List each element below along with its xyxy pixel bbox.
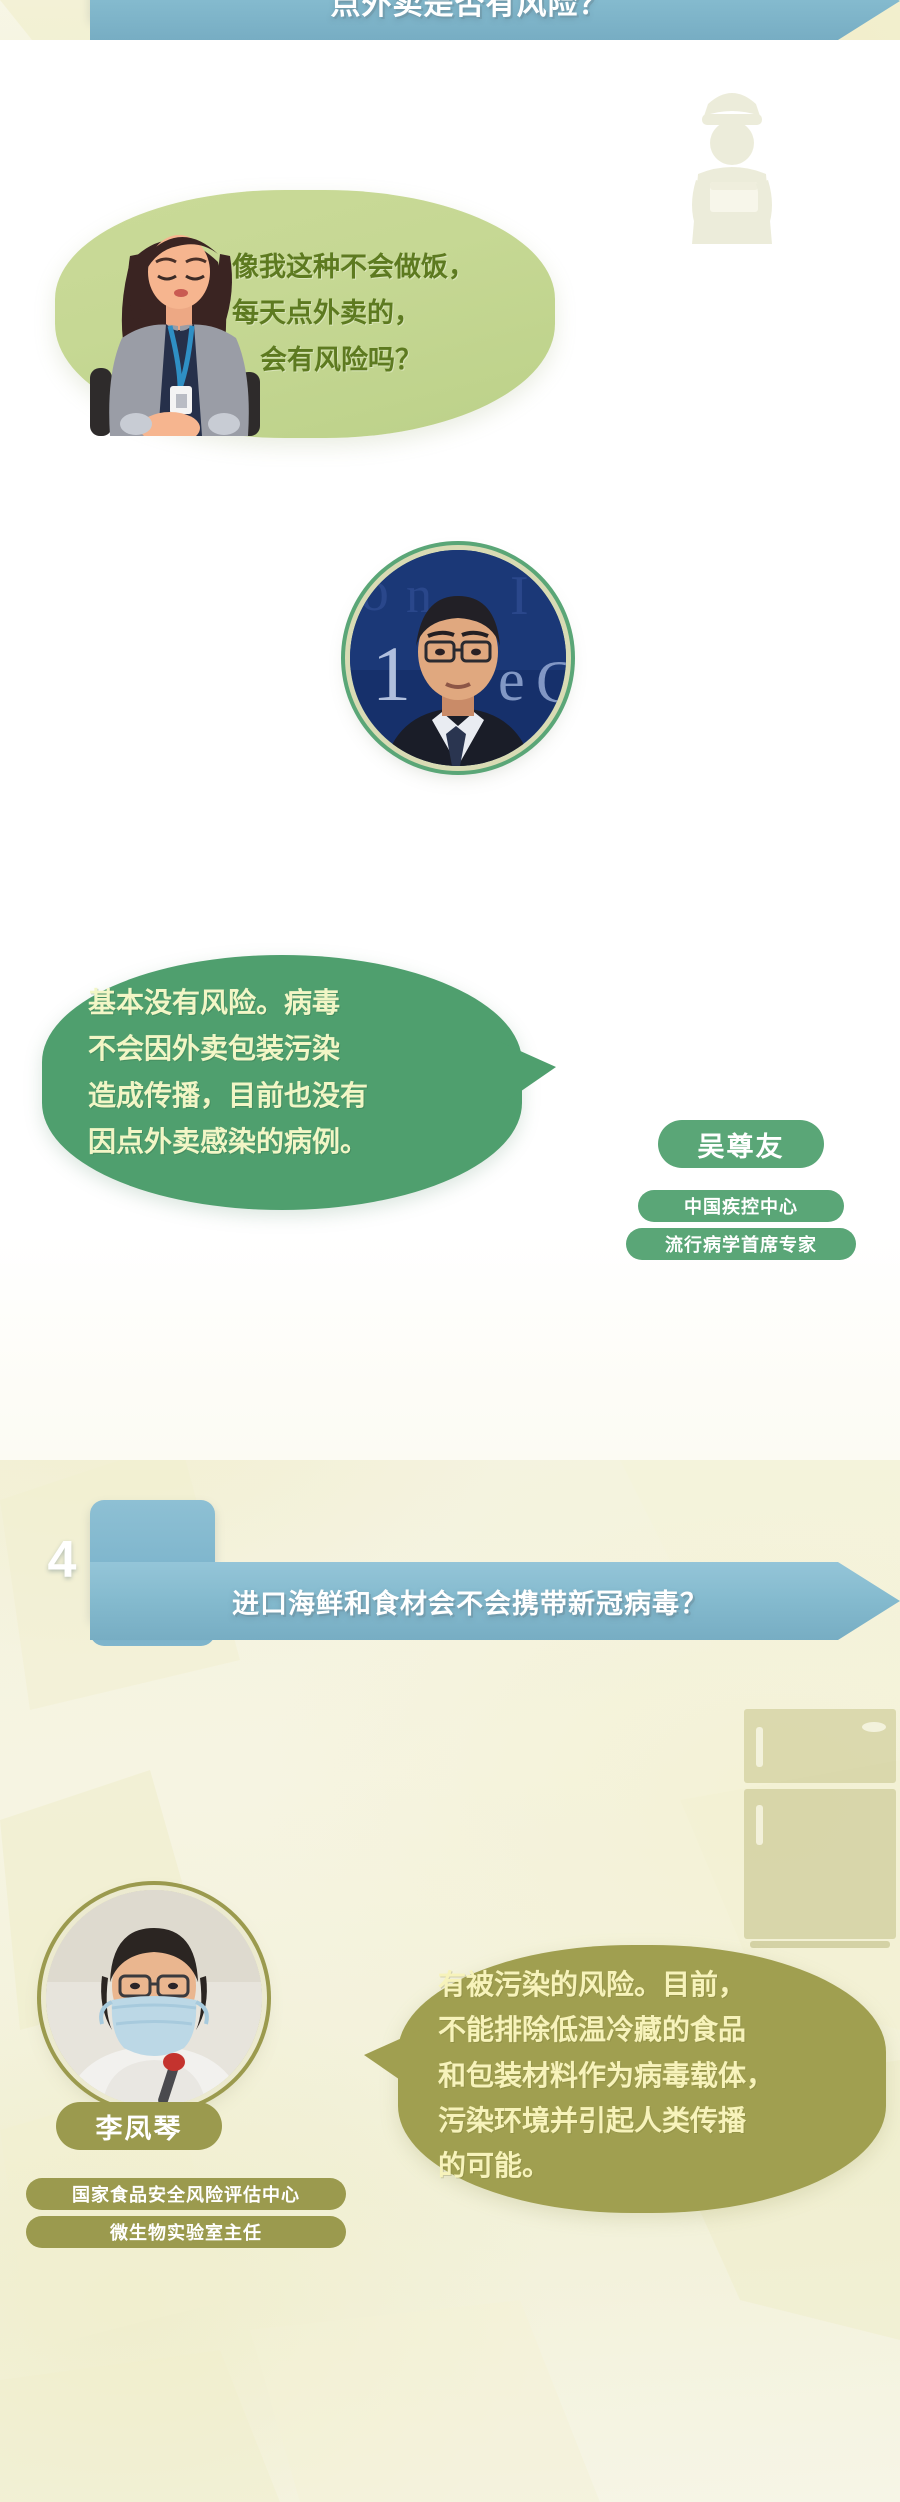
refrigerator-icon — [740, 1705, 900, 1955]
expert-role-li-fengqin: 微生物实验室主任 — [26, 2216, 346, 2248]
question-text: 像我这种不会做饭， 每天点外卖的， 会有风险吗？ — [232, 244, 532, 383]
expert-name-wu-zunyou: 吴尊友 — [658, 1120, 824, 1168]
expert-affiliation-li-fengqin: 国家食品安全风险评估中心 — [26, 2178, 346, 2210]
expert-affiliation-wu-zunyou: 中国疾控中心 — [638, 1190, 844, 1222]
answer-text-section-four: 有被污染的风险。目前， 不能排除低温冷藏的食品 和包装材料作为病毒载体， 污染环… — [438, 1962, 868, 2189]
expert-name-li-fengqin: 李凤琴 — [56, 2102, 222, 2150]
answer-line-4: 污染环境并引起人类传播 — [438, 2098, 868, 2143]
bubble-tail — [498, 1041, 556, 1107]
section-three-banner-question: 点外卖是否有风险？ — [90, 0, 850, 40]
infographic-page: 3 点外卖是否有风险？ — [0, 0, 900, 2502]
question-line-1: 像我这种不会做饭， — [232, 244, 532, 290]
answer-text-section-three: 基本没有风险。病毒 不会因外卖包装污染 造成传播，目前也没有 因点外卖感染的病例… — [88, 980, 488, 1166]
answer-line-5: 的可能。 — [438, 2143, 868, 2188]
answer-line-3: 和包装材料作为病毒载体， — [438, 2053, 868, 2098]
answer-line-4: 因点外卖感染的病例。 — [88, 1119, 488, 1165]
answer-line-2: 不会因外卖包装污染 — [88, 1026, 488, 1072]
section-four-banner-question: 进口海鲜和食材会不会携带新冠病毒？ — [90, 1562, 850, 1640]
answer-line-3: 造成传播，目前也没有 — [88, 1073, 488, 1119]
expert-portrait-wu-zunyou: o n I 1 e C — [350, 550, 566, 766]
portrait-ring — [350, 550, 566, 766]
section-four-banner: 4 进口海鲜和食材会不会携带新冠病毒？ — [0, 1500, 900, 1650]
question-line-2: 每天点外卖的， — [232, 290, 532, 336]
section-three-banner: 3 点外卖是否有风险？ — [0, 0, 900, 50]
question-line-3: 会有风险吗？ — [232, 337, 532, 383]
delivery-courier-icon — [672, 70, 792, 260]
expert-role-wu-zunyou: 流行病学首席专家 — [626, 1228, 856, 1260]
answer-line-1: 基本没有风险。病毒 — [88, 980, 488, 1026]
answer-line-1: 有被污染的风险。目前， — [438, 1962, 868, 2007]
expert-portrait-li-fengqin — [46, 1890, 262, 2106]
answer-line-2: 不能排除低温冷藏的食品 — [438, 2007, 868, 2052]
bubble-tail — [364, 2029, 422, 2095]
